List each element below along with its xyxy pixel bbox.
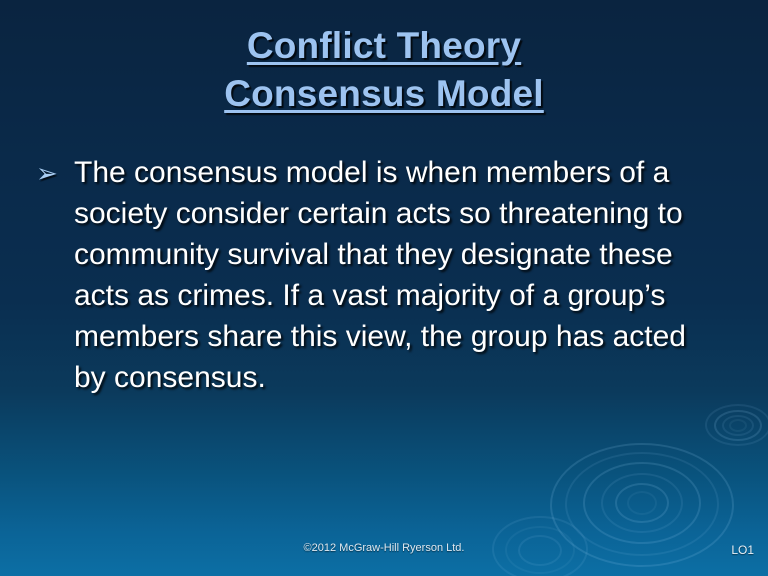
slide-title: Conflict Theory Consensus Model (0, 22, 768, 118)
footer-learning-objective-badge: LO1 (731, 543, 754, 557)
ripple-ring-large-6 (627, 491, 657, 515)
bullet-list-item: ➢ The consensus model is when members of… (36, 152, 736, 398)
bullet-arrow-icon: ➢ (36, 152, 74, 194)
ripple-ring-small-2 (714, 410, 762, 441)
ripple-ring-large-3 (583, 462, 701, 544)
slide-body: ➢ The consensus model is when members of… (36, 152, 736, 398)
ripple-ring-large-5 (615, 483, 669, 523)
slide-canvas: Conflict Theory Consensus Model ➢ The co… (0, 0, 768, 576)
ripple-ring-large-2 (565, 452, 719, 556)
ripple-ring-small-4 (729, 419, 747, 432)
ripple-ring-small-3 (722, 415, 754, 436)
slide-title-line-1-text: Conflict Theory (247, 25, 521, 66)
ripple-ring-large-4 (601, 473, 683, 533)
slide-title-line-2: Consensus Model (0, 70, 768, 118)
footer-copyright: ©2012 McGraw-Hill Ryerson Ltd. (0, 542, 768, 554)
slide-title-line-1: Conflict Theory (0, 22, 768, 70)
bullet-item-text: The consensus model is when members of a… (74, 152, 714, 398)
slide-title-line-2-text: Consensus Model (224, 73, 544, 114)
ripple-ring-small-1 (705, 404, 768, 446)
